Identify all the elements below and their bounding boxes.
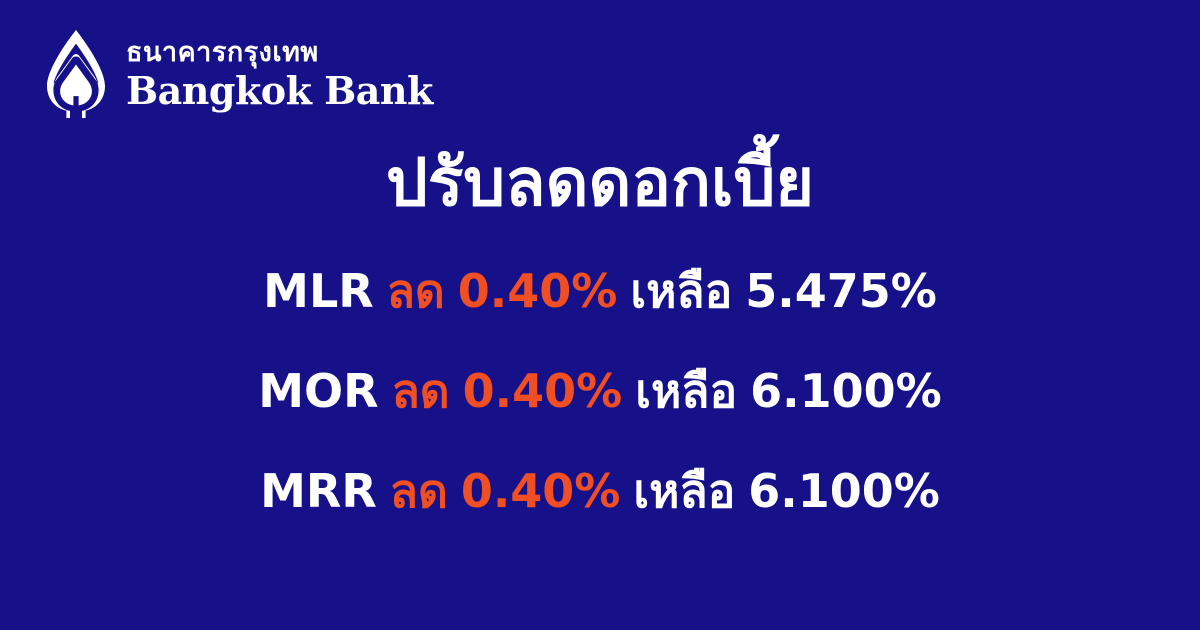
page-title: ปรับลดดอกเบี้ย bbox=[0, 146, 1200, 220]
brand-name-latin: Bangkok Bank bbox=[126, 70, 433, 112]
rate-row-mlr: MLRลด0.40%เหลือ5.475% bbox=[0, 268, 1200, 324]
rate-cut-value: 0.40% bbox=[458, 264, 618, 318]
rate-row-mor: MORลด0.40%เหลือ6.100% bbox=[0, 368, 1200, 424]
rate-cut-value: 0.40% bbox=[463, 364, 623, 418]
brand-name-thai: ธนาคารกรุงเทพ bbox=[126, 37, 433, 68]
rate-announcement-poster: ธนาคารกรุงเทพ Bangkok Bank ปรับลดดอกเบี้… bbox=[0, 0, 1200, 630]
bangkok-bank-leaf-mark-icon bbox=[40, 28, 112, 120]
brand-logo-lockup: ธนาคารกรุงเทพ Bangkok Bank bbox=[40, 28, 433, 120]
brand-wordmark: ธนาคารกรุงเทพ Bangkok Bank bbox=[126, 37, 433, 112]
rate-list: MLRลด0.40%เหลือ5.475% MORลด0.40%เหลือ6.1… bbox=[0, 268, 1200, 524]
rate-cut-label: ลด bbox=[390, 464, 448, 518]
rate-remain-label: เหลือ bbox=[633, 464, 735, 518]
rate-remain-label: เหลือ bbox=[630, 264, 732, 318]
rate-cut-label: ลด bbox=[392, 364, 450, 418]
rate-cut-value: 0.40% bbox=[461, 464, 621, 518]
rate-code: MOR bbox=[258, 364, 378, 418]
rate-remain-value: 6.100% bbox=[748, 464, 940, 518]
rate-remain-value: 6.100% bbox=[750, 364, 942, 418]
rate-remain-label: เหลือ bbox=[635, 364, 737, 418]
rate-code: MLR bbox=[263, 264, 374, 318]
rate-row-mrr: MRRลด0.40%เหลือ6.100% bbox=[0, 468, 1200, 524]
rate-cut-label: ลด bbox=[387, 264, 445, 318]
rate-remain-value: 5.475% bbox=[745, 264, 937, 318]
rate-code: MRR bbox=[260, 464, 377, 518]
